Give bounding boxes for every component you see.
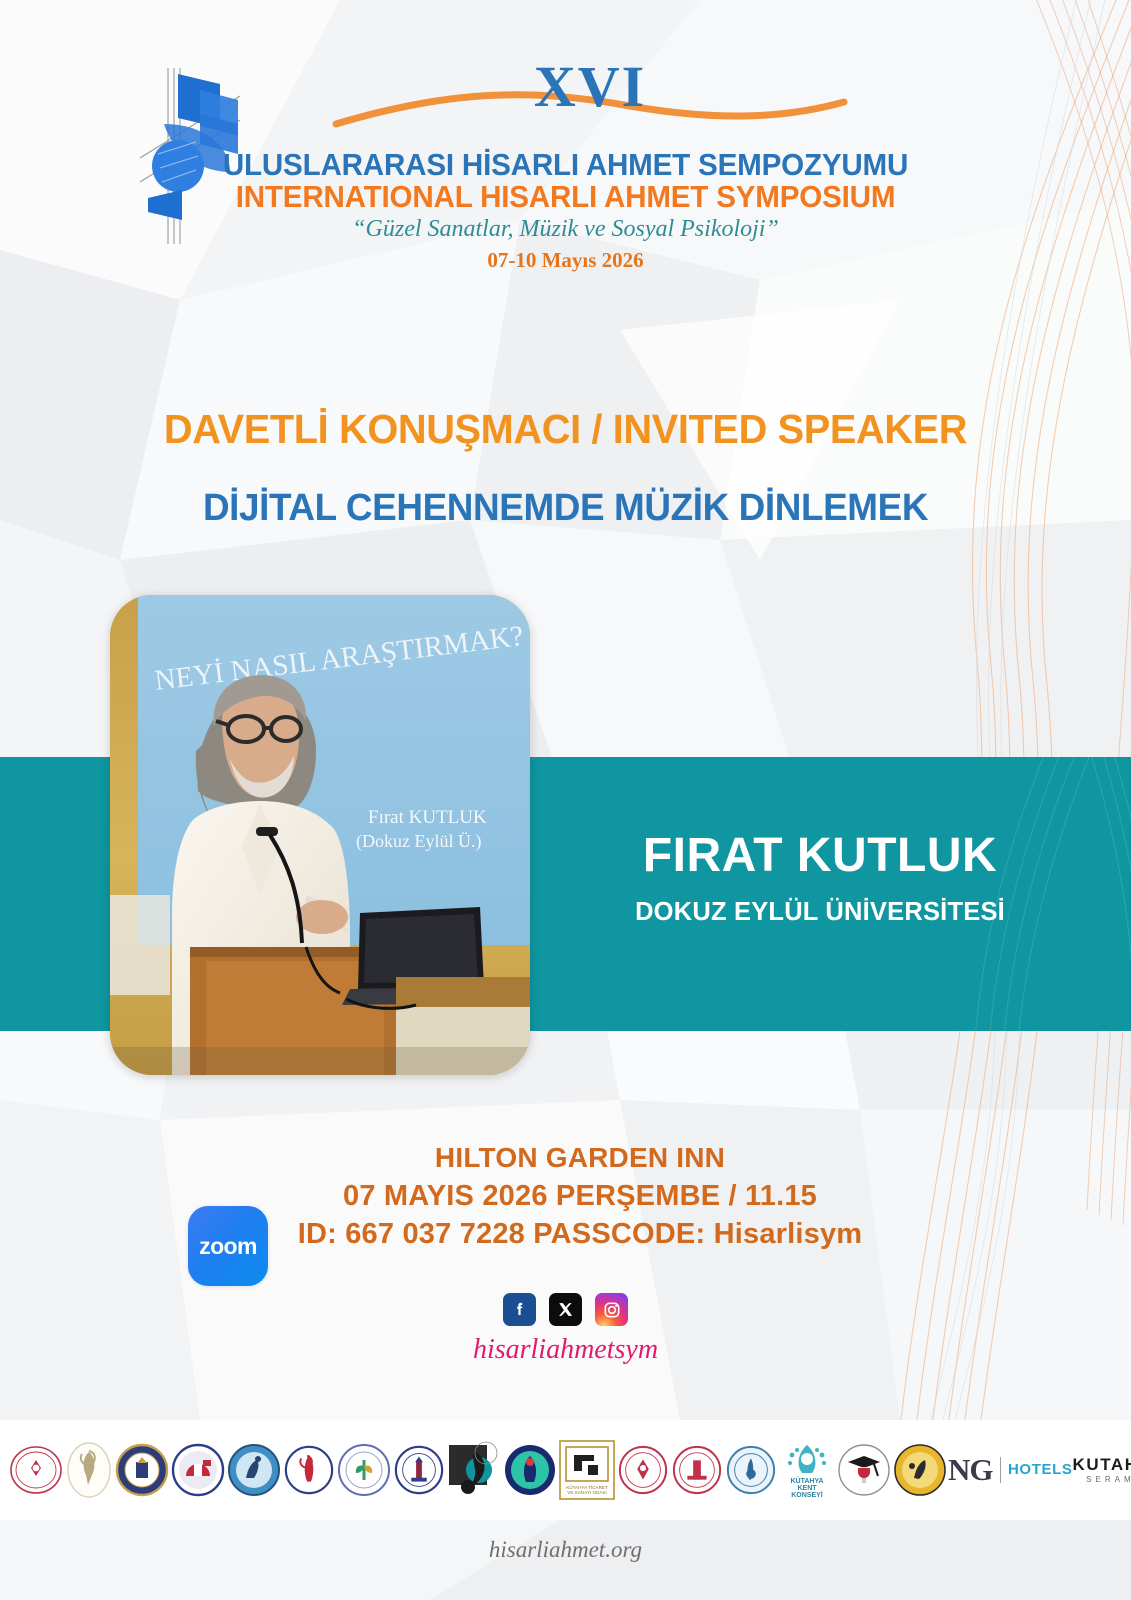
- symposium-title-tr: ULUSLARARASI HİSARLI AHMET SEMPOZYUMU: [17, 148, 1114, 183]
- svg-text:KÜTAHYA: KÜTAHYA: [790, 1476, 823, 1485]
- sponsor-logo-6: [282, 1431, 336, 1509]
- sponsor-logo-kutahya-seramik: KUTAHYA SERAMİK: [1072, 1431, 1131, 1509]
- footer-website-url: hisarliahmet.org: [0, 1537, 1131, 1563]
- edition-numeral: XVI: [330, 58, 850, 116]
- sponsor-logo-12: [670, 1431, 724, 1509]
- sponsor-logo-1: [8, 1431, 64, 1509]
- svg-text:KENT: KENT: [797, 1485, 817, 1492]
- poster-root: XVI ULUSLARARASI HİSARLI AHMET SEMPOZYUM…: [0, 0, 1131, 1600]
- symposium-dates: 07-10 Mayıs 2026: [0, 248, 1131, 273]
- ng-wordmark: NG: [948, 1454, 993, 1486]
- ng-divider: [1000, 1457, 1002, 1483]
- poster-header: XVI ULUSLARARASI HİSARLI AHMET SEMPOZYUM…: [0, 0, 1131, 300]
- sponsor-logo-4: [170, 1431, 226, 1509]
- symposium-motto: “Güzel Sanatlar, Müzik ve Sosyal Psikolo…: [0, 216, 1131, 243]
- speaker-photo: NEYİ NASIL ARAŞTIRMAK? Fırat KUTLUK (Dok…: [110, 595, 530, 1075]
- band-decorative-lines: [891, 757, 1131, 1031]
- slide-affiliation-text: (Dokuz Eylül Ü.): [356, 831, 481, 852]
- sponsor-logo-kutahya-ticaret: KÜTAHYA TİCARET VE SANAYİ ODASI: [558, 1431, 616, 1509]
- hotels-wordmark: HOTELS: [1008, 1462, 1072, 1477]
- kutahya-wordmark: KUTAHYA: [1072, 1456, 1131, 1473]
- zoom-logo-icon[interactable]: zoom: [188, 1206, 268, 1286]
- instagram-icon[interactable]: [595, 1293, 628, 1326]
- sponsor-logo-10: [502, 1431, 558, 1509]
- speaker-affiliation: DOKUZ EYLÜL ÜNİVERSİTESİ: [540, 898, 1100, 927]
- sponsor-logo-2: [64, 1431, 114, 1509]
- sponsor-logo-5: [226, 1431, 282, 1509]
- social-handle: hisarliahmetsym: [0, 1334, 1131, 1366]
- invited-speaker-heading: DAVETLİ KONUŞMACI / INVITED SPEAKER: [17, 406, 1114, 453]
- event-details: HILTON GARDEN INN 07 MAYIS 2026 PERŞEMBE…: [200, 1140, 960, 1253]
- svg-text:KONSEYİ: KONSEYİ: [791, 1491, 823, 1499]
- sponsor-logo-3: [114, 1431, 170, 1509]
- sponsor-logo-7: [336, 1431, 392, 1509]
- x-twitter-icon[interactable]: [549, 1293, 582, 1326]
- seramik-wordmark: SERAMİK: [1072, 1476, 1131, 1484]
- sponsor-logo-8: [392, 1431, 446, 1509]
- social-links: [0, 1293, 1131, 1326]
- event-venue: HILTON GARDEN INN: [200, 1140, 960, 1177]
- sponsor-logo-kutahya-kent-konseyi: KÜTAHYA KENT KONSEYİ: [778, 1431, 836, 1509]
- talk-topic-heading: DİJİTAL CEHENNEMDE MÜZİK DİNLEMEK: [17, 487, 1114, 530]
- sponsor-logo-13: [724, 1431, 778, 1509]
- speaker-name: FIRAT KUTLUK: [540, 828, 1100, 883]
- event-meeting-credentials: ID: 667 037 7228 PASSCODE: Hisarlisym: [200, 1215, 960, 1253]
- sponsor-logo-15: [892, 1431, 948, 1509]
- facebook-icon[interactable]: [503, 1293, 536, 1326]
- event-datetime: 07 MAYIS 2026 PERŞEMBE / 11.15: [200, 1177, 960, 1215]
- slide-presenter-text: Fırat KUTLUK: [368, 807, 487, 828]
- sponsor-logo-11: [616, 1431, 670, 1509]
- svg-text:VE SANAYİ ODASI: VE SANAYİ ODASI: [567, 1489, 606, 1495]
- edition-numeral-block: XVI: [330, 58, 850, 148]
- sponsor-logo-14: [836, 1431, 892, 1509]
- sponsor-logo-bar: KÜTAHYA TİCARET VE SANAYİ ODASI: [0, 1420, 1131, 1520]
- sponsor-logo-9: [446, 1431, 502, 1509]
- symposium-title-en: INTERNATIONAL HISARLI AHMET SYMPOSIUM: [17, 180, 1114, 215]
- sponsor-logo-ng-hotels: NG HOTELS: [948, 1431, 1072, 1509]
- zoom-wordmark: zoom: [199, 1233, 257, 1260]
